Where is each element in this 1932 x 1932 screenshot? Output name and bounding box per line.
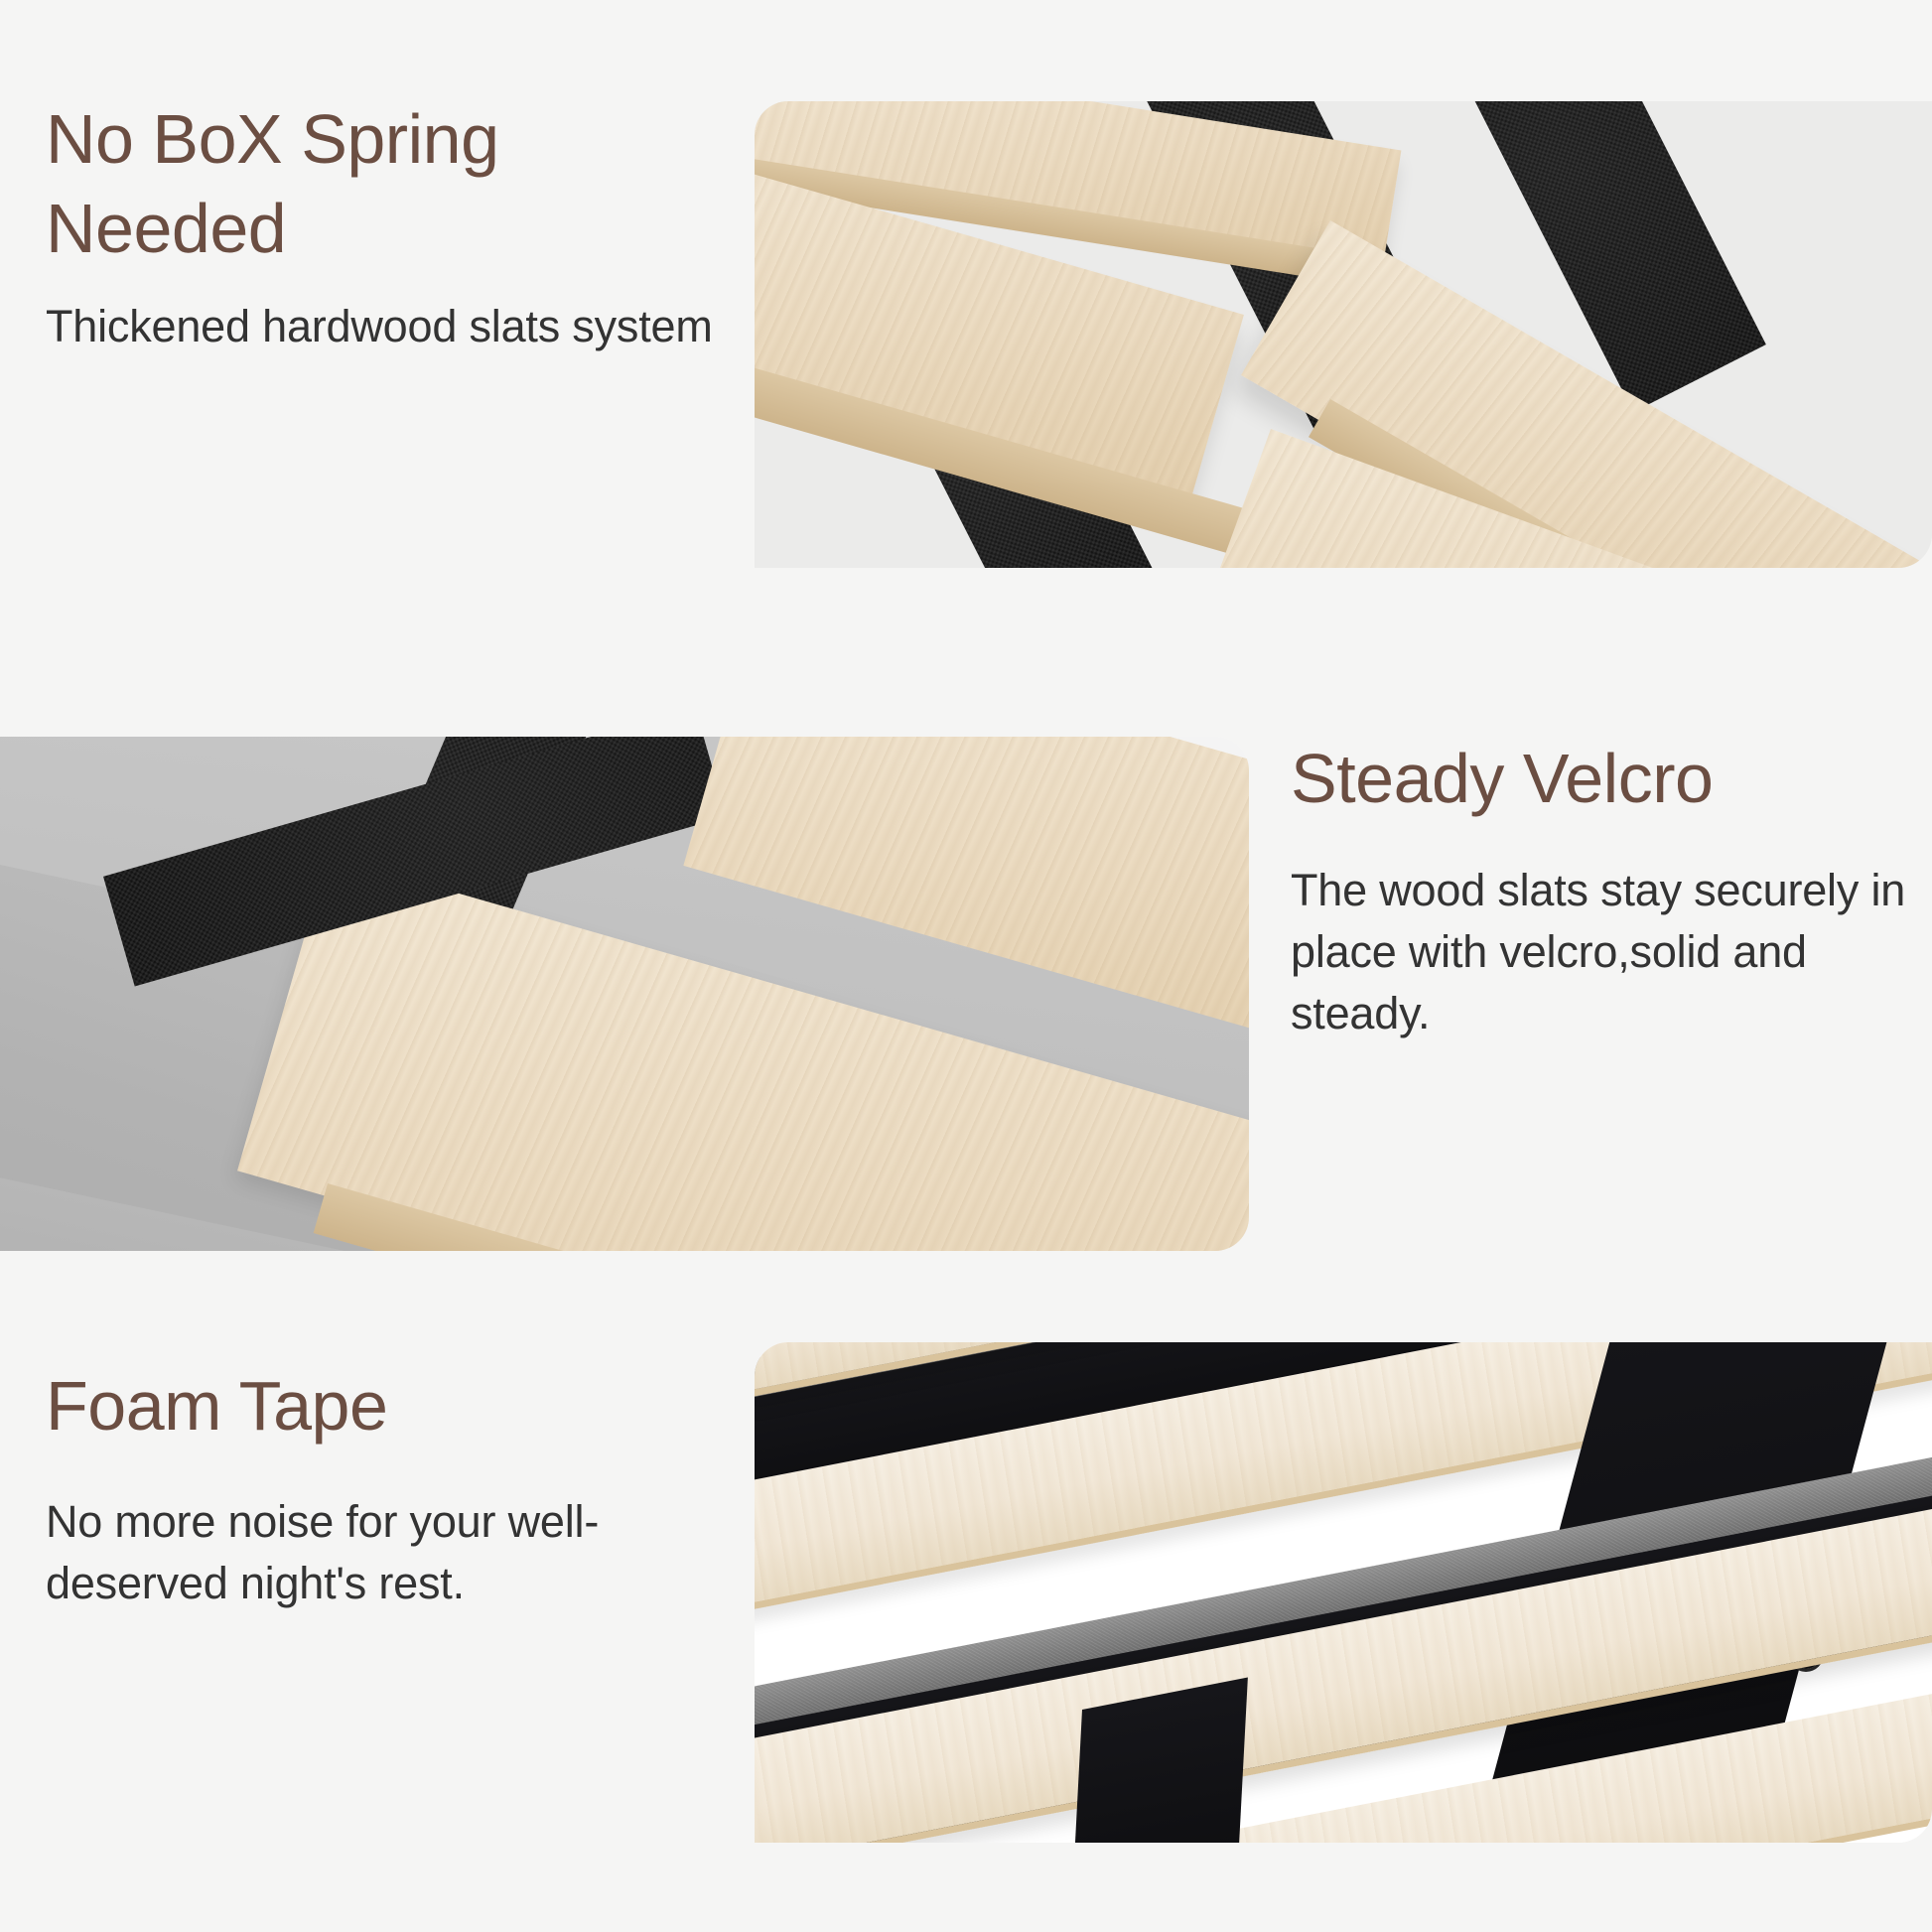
section-heading-steady-velcro: Steady Velcro (1291, 737, 1926, 820)
section-body-no-box-spring: Thickened hardwood slats system (46, 297, 741, 356)
image-panel-steady-velcro (0, 737, 1249, 1251)
steady-velcro-illustration (0, 737, 1249, 1251)
section-heading-no-box-spring: No BoX Spring Needed (46, 95, 741, 273)
section-no-box-spring-text: No BoX Spring Needed Thickened hardwood … (46, 95, 741, 356)
hardwood-slats-illustration (755, 101, 1932, 568)
section-foam-tape-text: Foam Tape No more noise for your well-de… (46, 1364, 721, 1614)
foam-tape-illustration (755, 1342, 1932, 1843)
section-body-steady-velcro: The wood slats stay securely in place wi… (1291, 860, 1926, 1044)
section-body-foam-tape: No more noise for your well-deserved nig… (46, 1491, 721, 1614)
section-steady-velcro-text: Steady Velcro The wood slats stay secure… (1291, 737, 1926, 1044)
image-panel-hardwood-slats (755, 101, 1932, 568)
image-panel-foam-tape (755, 1342, 1932, 1843)
section-heading-foam-tape: Foam Tape (46, 1364, 721, 1448)
infographic-page: No BoX Spring Needed Thickened hardwood … (0, 0, 1932, 1932)
